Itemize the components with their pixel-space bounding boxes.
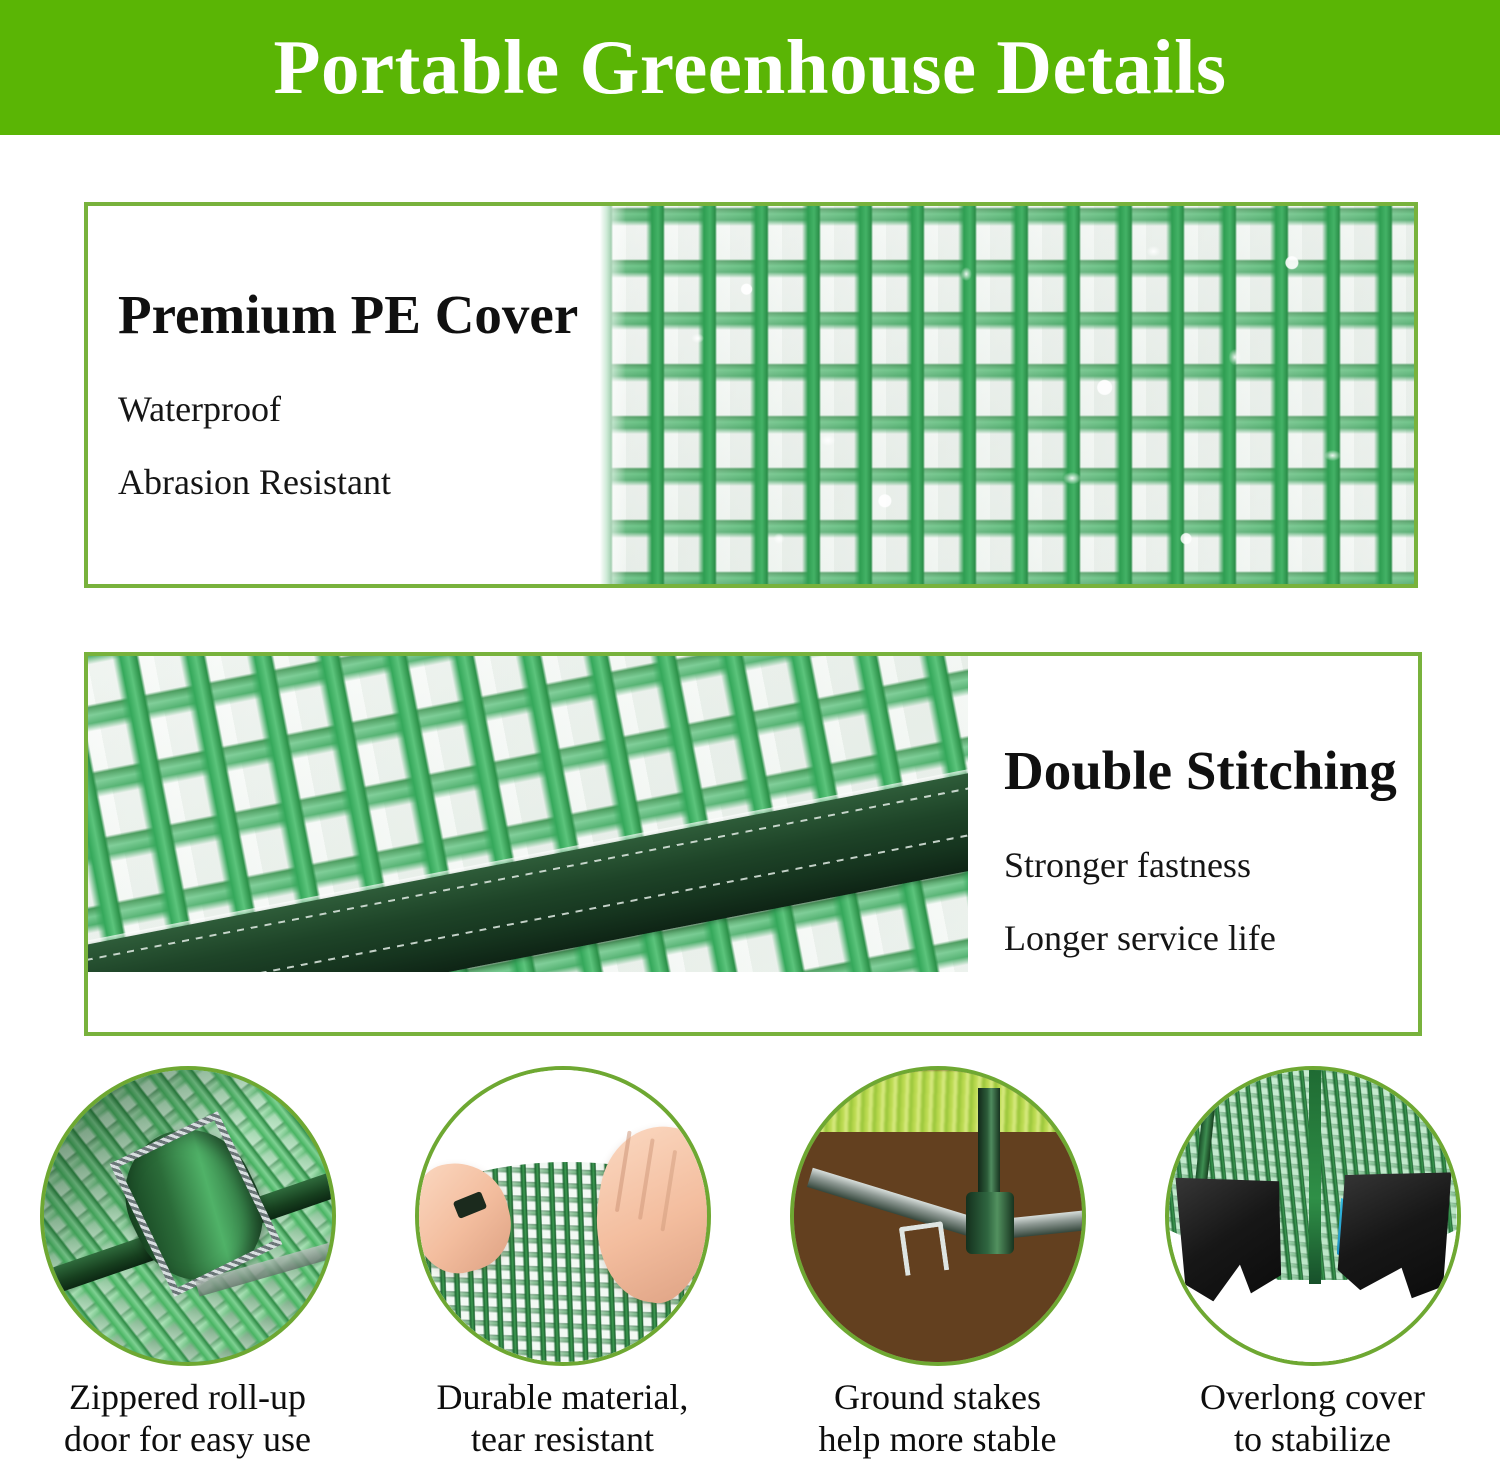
pe-cover-mesh-photo [600,206,1414,584]
feature-circle-zippered-door [40,1066,336,1366]
caption-line: Ground stakes [758,1376,1117,1418]
panel-subpoint: Longer service life [1004,919,1422,959]
t-connector-joint [966,1192,1014,1254]
panel-heading: Double Stitching [1004,742,1422,800]
panel-subpoint: Stronger fastness [1004,846,1422,886]
panel-subpoint: Waterproof [118,390,600,430]
feature-caption-row: Zippered roll-up door for easy use Durab… [0,1376,1500,1457]
sand-bag-left [1170,1162,1291,1303]
feature-cell [1125,1066,1500,1376]
panel-heading: Premium PE Cover [118,286,600,344]
panel-text-block: Premium PE Cover Waterproof Abrasion Res… [88,206,600,584]
feature-caption: Overlong cover to stabilize [1125,1376,1500,1457]
sand-bag-weights-icon [1169,1070,1457,1362]
feature-caption: Ground stakes help more stable [750,1376,1125,1457]
caption-line: Durable material, [383,1376,742,1418]
header-banner: Portable Greenhouse Details [0,0,1500,135]
panel-text-block: Double Stitching Stronger fastness Longe… [968,656,1422,1032]
cover-seam [1309,1070,1321,1284]
caption-line: help more stable [758,1418,1117,1460]
caption-line: door for easy use [8,1418,367,1460]
sand-bag-right [1331,1161,1456,1303]
caption-line: tear resistant [383,1418,742,1460]
page-title: Portable Greenhouse Details [273,29,1226,106]
feature-panel-premium-pe-cover: Premium PE Cover Waterproof Abrasion Res… [84,202,1418,588]
feature-panel-double-stitching: Double Stitching Stronger fastness Longe… [84,652,1422,1036]
feature-circle-ground-stakes [790,1066,1086,1366]
double-stitching-photo [88,656,968,1032]
feature-cell [375,1066,750,1376]
photo-left-fade [600,206,626,584]
hands-stretching-mesh-icon [419,1070,707,1362]
mesh-texture [600,206,1414,584]
caption-line: Zippered roll-up [8,1376,367,1418]
panel-subpoint: Abrasion Resistant [118,463,600,503]
feature-circle-durable-material [415,1066,711,1366]
feature-caption: Zippered roll-up door for easy use [0,1376,375,1457]
feature-cell [750,1066,1125,1376]
caption-line: Overlong cover [1133,1376,1492,1418]
feature-caption: Durable material, tear resistant [375,1376,750,1457]
photo-bottom-fade [1169,1306,1457,1362]
feature-cell [0,1066,375,1376]
feature-circle-row [0,1066,1500,1376]
photo-bottom-fade [88,972,968,1032]
zipper-door-icon [44,1070,332,1362]
feature-circle-overlong-cover [1165,1066,1461,1366]
ground-stake-pin [898,1221,948,1276]
ground-stake-icon [794,1070,1082,1362]
caption-line: to stabilize [1133,1418,1492,1460]
